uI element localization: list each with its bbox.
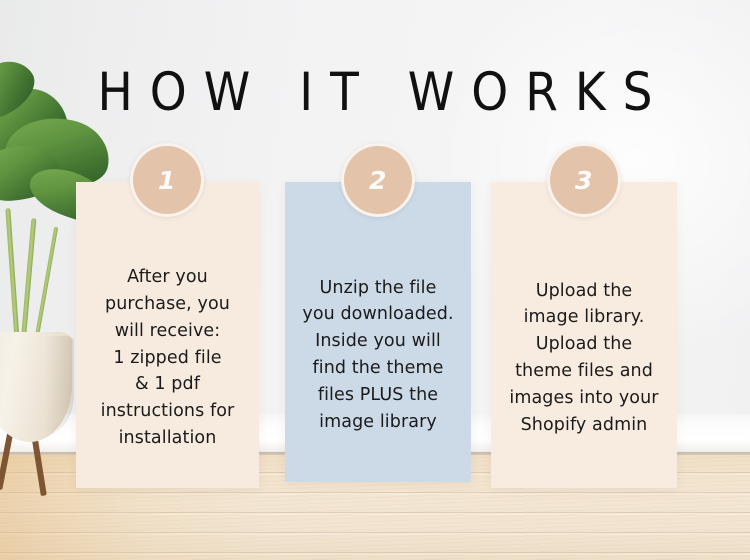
plant-stem-icon [34,227,58,344]
step-card-3: Upload the image library. Upload the the… [491,182,677,488]
step-card-3-text: Upload the image library. Upload the the… [501,278,667,439]
step-card-2-text: Unzip the file you downloaded. Inside yo… [295,275,461,436]
how-it-works-graphic: HOW IT WORKS After you purchase, you wil… [0,0,750,560]
page-title: HOW IT WORKS [0,62,750,124]
step-badge-1: 1 [130,143,204,217]
step-card-1: After you purchase, you will receive: 1 … [76,182,259,488]
plant-pot-shading [44,336,74,436]
step-card-1-text: After you purchase, you will receive: 1 … [86,264,249,451]
step-card-2: Unzip the file you downloaded. Inside yo… [285,182,471,482]
step-badge-3: 3 [547,143,621,217]
plant-stem-icon [21,218,37,343]
step-badge-2-number: 2 [369,166,387,195]
step-badge-3-number: 3 [575,166,593,195]
step-badge-2: 2 [341,143,415,217]
step-badge-1-number: 1 [158,166,176,195]
plant-stem-icon [5,208,19,343]
